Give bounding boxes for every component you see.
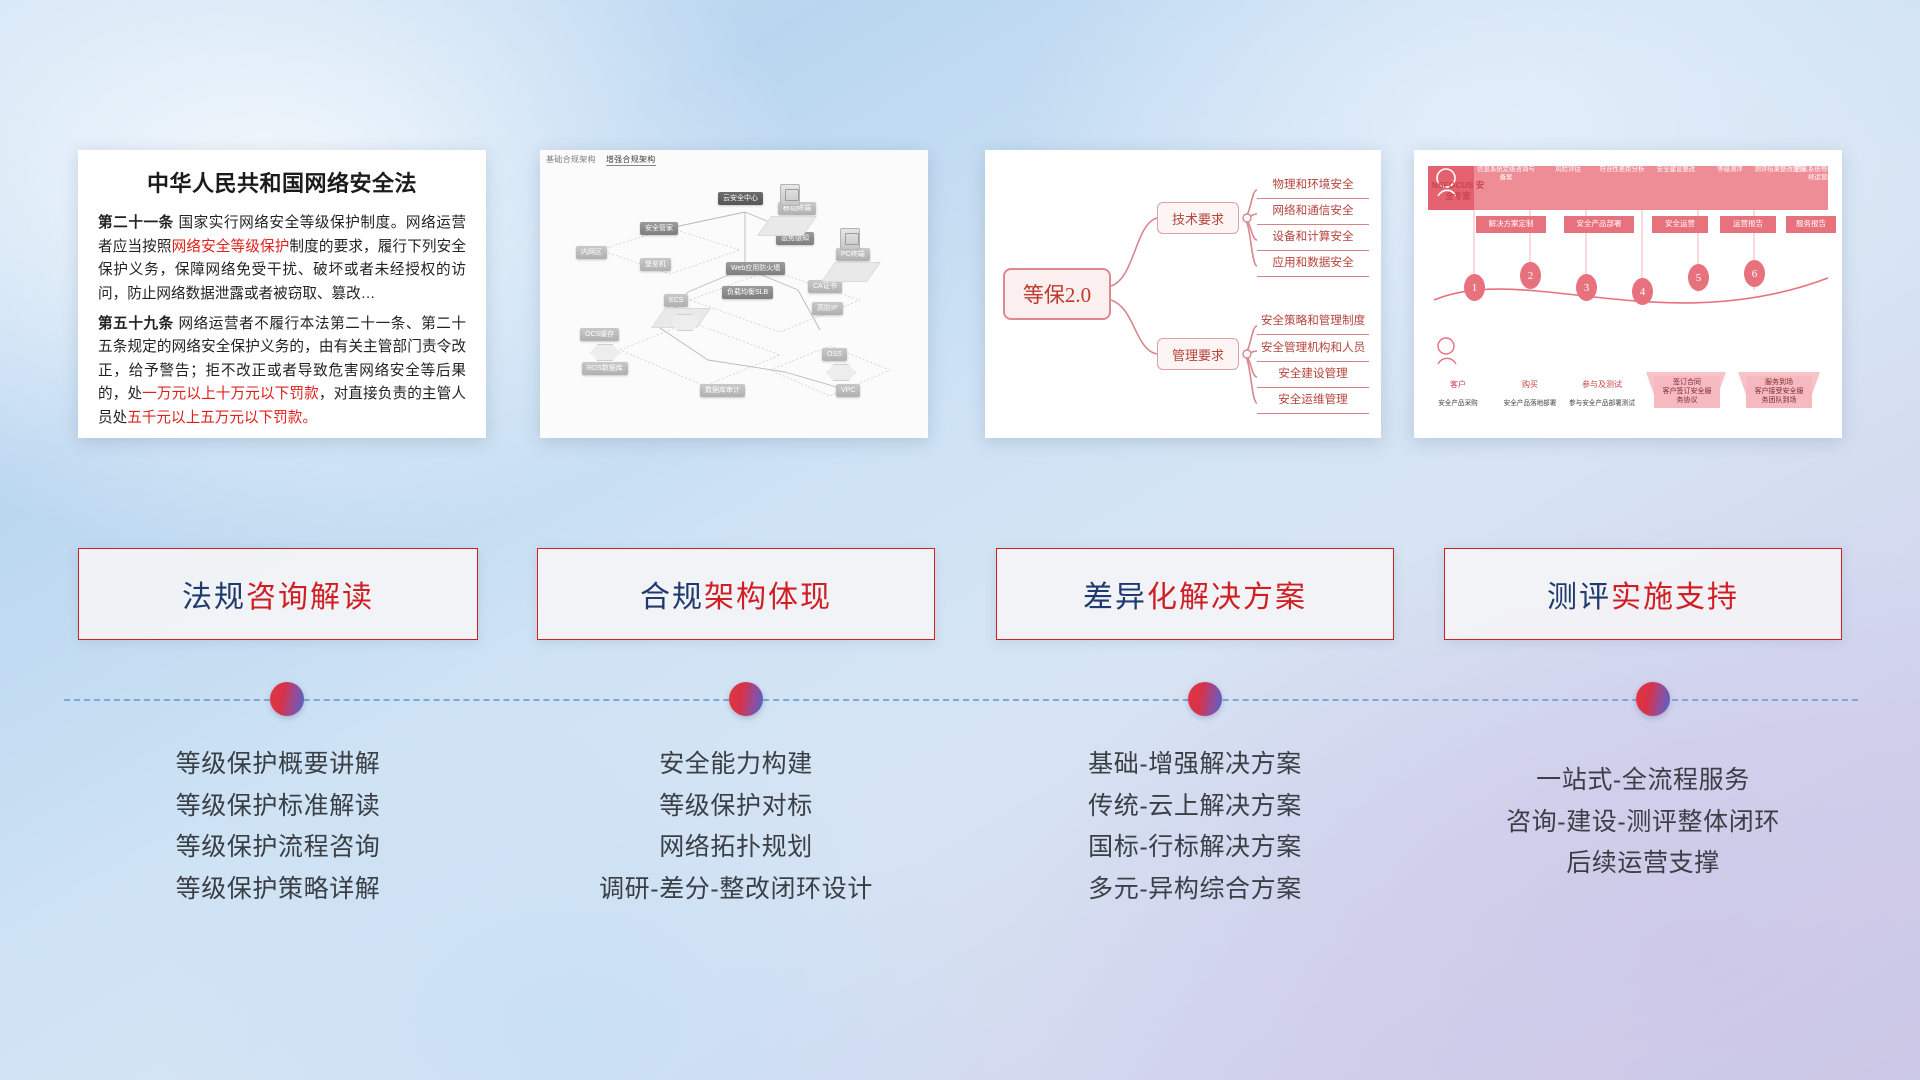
roadmap-chip-4: 运营报告 [1720,216,1776,233]
section-header-compliance-architecture[interactable]: 合规架构体现 [537,548,935,640]
node-ocs-cache: OCS缓存 [580,328,619,341]
article-59-highlight-a: 一万元以上十万元以下罚款 [142,386,319,402]
roadmap-step-2: 2 [1520,262,1541,289]
bullet-item: 网络拓扑规划 [537,827,935,869]
mindmap-leaf-mgmt-1: 安全策略和管理制度 [1257,310,1369,335]
roadmap-chip-5: 服务报告 [1786,216,1836,233]
node-vpc: VPC [836,384,860,397]
mindmap-branch-technical: 技术要求 [1157,202,1239,234]
roadmap-top-label-3: 符合性差距分析 [1592,166,1652,174]
timeline-dot-2 [729,682,763,716]
bullet-item: 传统-云上解决方案 [996,786,1394,828]
architecture-diagram-card: 基础合规架构增强合规架构 [540,150,928,438]
device-cube-pc [840,228,860,250]
roadmap-card: NSFOCUS 安全专家 信息系统定级咨询与备案 风险评估 符合性差距分析 安全… [1414,150,1842,438]
roadmap-chip-2: 安全产品部署 [1564,216,1634,233]
section-header-differentiated-solution-text: 差异化解决方案 [1083,572,1307,616]
roadmap-bottom-1: 客户 安全产品采购 [1420,372,1496,409]
bullet-column-compliance-architecture: 安全能力构建 等级保护对标 网络拓扑规划 调研-差分-整改闭环设计 [537,744,935,910]
node-ecs: ECS [664,294,688,307]
section-header-legal-consulting[interactable]: 法规咨询解读 [78,548,478,640]
timeline-dot-3 [1188,682,1222,716]
roadmap-top-label-7: 信息系统等级保护持续运营服务 [1794,166,1842,181]
section-header-evaluation-support-text: 测评实施支持 [1547,572,1739,616]
bullet-column-differentiated-solution: 基础-增强解决方案 传统-云上解决方案 国标-行标解决方案 多元-异构综合方案 [996,744,1394,910]
article-21-highlight: 网络安全等级保护 [172,239,290,255]
roadmap-step-1: 1 [1464,274,1485,301]
roadmap-step-4: 4 [1632,278,1653,305]
mindmap-root-node: 等保2.0 [1003,268,1111,320]
article-59-highlight-b: 五千元以上五万元以下罚款。 [127,410,317,426]
mindmap-leaf-tech-4: 应用和数据安全 [1257,252,1369,277]
roadmap-top-label-1: 信息系统定级咨询与备案 [1476,166,1536,181]
article-21-label: 第二十一条 [98,215,174,231]
node-bastion-host: 堡垒机 [640,258,671,271]
timeline-dot-4 [1636,682,1670,716]
bullet-item: 等级保护标准解读 [78,786,478,828]
mindmap-leaf-mgmt-4: 安全运维管理 [1257,389,1369,414]
law-title: 中华人民共和国网络安全法 [98,166,466,198]
mindmap-branch-management: 管理要求 [1157,338,1239,370]
bullet-item: 国标-行标解决方案 [996,827,1394,869]
node-oss: OSS [822,348,847,361]
bullet-item: 后续运营支撑 [1444,843,1842,885]
bullet-item: 基础-增强解决方案 [996,744,1394,786]
roadmap-step-6: 6 [1744,260,1765,287]
node-web-application-firewall: Web应用防火墙 [726,262,785,275]
roadmap-bottom-2: 购买 安全产品落地部署 [1492,372,1568,409]
bullet-item: 调研-差分-整改闭环设计 [537,869,935,911]
mindmap-leaf-tech-2: 网络和通信安全 [1257,200,1369,225]
bullet-column-legal-consulting: 等级保护概要讲解 等级保护标准解读 等级保护流程咨询 等级保护策略详解 [78,744,478,910]
bullet-column-row: 等级保护概要讲解 等级保护标准解读 等级保护流程咨询 等级保护策略详解 安全能力… [0,744,1920,974]
header-4-prefix: 测评 [1547,581,1611,614]
roadmap-bottom-2-title: 购买 [1492,380,1568,390]
header-1-prefix: 法规 [182,581,246,614]
section-header-compliance-architecture-text: 合规架构体现 [640,572,832,616]
bullet-item: 多元-异构综合方案 [996,869,1394,911]
roadmap-top-label-4: 安全建设整改 [1646,166,1706,174]
header-2-prefix: 合规 [640,581,704,614]
section-header-evaluation-support[interactable]: 测评实施支持 [1444,548,1842,640]
mindmap-leaf-tech-1: 物理和环境安全 [1257,174,1369,199]
roadmap-top-label-2: 风险评估 [1538,166,1598,174]
roadmap-tag-2: 服务到场 客户接受安全服务团队到场 [1746,376,1812,408]
roadmap-bottom-3-title: 参与及测试 [1564,380,1640,390]
header-3-prefix: 差异 [1083,581,1147,614]
node-load-balancer-slb: 负载均衡SLB [722,286,773,299]
roadmap-brand-label: NSFOCUS 安全专家 [1430,180,1486,202]
node-cloud-security-center: 云安全中心 [718,192,763,205]
header-3-suffix: 化解决方案 [1147,581,1307,614]
law-body: 中华人民共和国网络安全法 第二十一条 国家实行网络安全等级保护制度。网络运营者应… [78,150,486,438]
timeline-dot-1 [270,682,304,716]
roadmap-chip-3: 安全运营 [1652,216,1708,233]
node-security-butler: 安全管家 [640,222,678,235]
bullet-item: 安全能力构建 [537,744,935,786]
roadmap-tag-1: 签订合同 客户签订安全服务协议 [1654,376,1720,408]
bullet-column-evaluation-support: 一站式-全流程服务 咨询-建设-测评整体闭环 后续运营支撑 [1444,760,1842,885]
roadmap-bottom-2-sub: 安全产品落地部署 [1504,400,1557,407]
node-database-audit: 数据库审计 [700,384,745,397]
mindmap-leaf-tech-3: 设备和计算安全 [1257,226,1369,251]
device-cube-mobile [780,184,800,206]
law-text-card: 中华人民共和国网络安全法 第二十一条 国家实行网络安全等级保护制度。网络运营者应… [78,150,486,438]
article-59-label: 第五十九条 [98,316,174,332]
mindmap-canvas: 等保2.0 技术要求 管理要求 物理和环境安全 网络和通信安全 设备和计算安全 … [985,150,1381,438]
roadmap-bottom-3: 参与及测试 参与安全产品部署测试 [1564,372,1640,409]
roadmap-bottom-1-sub: 安全产品采购 [1438,400,1478,407]
architecture-canvas: 基础合规架构增强合规架构 [540,150,928,438]
slide-root: 中华人民共和国网络安全法 第二十一条 国家实行网络安全等级保护制度。网络运营者应… [0,0,1920,1080]
roadmap-step-5: 5 [1688,264,1709,291]
mindmap-card: 等保2.0 技术要求 管理要求 物理和环境安全 网络和通信安全 设备和计算安全 … [985,150,1381,438]
section-header-differentiated-solution[interactable]: 差异化解决方案 [996,548,1394,640]
roadmap-step-3: 3 [1576,274,1597,301]
section-header-row: 法规咨询解读 合规架构体现 差异化解决方案 测评实施支持 [0,548,1920,640]
bullet-item: 等级保护策略详解 [78,869,478,911]
law-article-21: 第二十一条 国家实行网络安全等级保护制度。网络运营者应当按照网络安全等级保护制度… [98,212,466,307]
image-card-row: 中华人民共和国网络安全法 第二十一条 国家实行网络安全等级保护制度。网络运营者应… [0,150,1920,440]
bullet-item: 等级保护概要讲解 [78,744,478,786]
roadmap-bottom-1-title: 客户 [1420,380,1496,390]
roadmap-chip-1: 解决方案定制 [1476,216,1546,233]
header-1-suffix: 咨询解读 [246,581,374,614]
roadmap-bottom-3-sub: 参与安全产品部署测试 [1569,400,1635,407]
roadmap-canvas: NSFOCUS 安全专家 信息系统定级咨询与备案 风险评估 符合性差距分析 安全… [1414,150,1842,438]
header-2-suffix: 架构体现 [704,581,832,614]
bullet-item: 等级保护对标 [537,786,935,828]
header-4-suffix: 实施支持 [1611,581,1739,614]
section-header-legal-consulting-text: 法规咨询解读 [182,572,374,616]
node-rds-database: RDS数据库 [582,362,628,375]
bullet-item: 等级保护流程咨询 [78,827,478,869]
node-anti-ddos-ip: 高防IP [812,302,843,315]
law-article-59: 第五十九条 网络运营者不履行本法第二十一条、第二十五条规定的网络安全保护义务的，… [98,313,466,431]
bullet-item: 咨询-建设-测评整体闭环 [1444,802,1842,844]
mindmap-leaf-mgmt-3: 安全建设管理 [1257,363,1369,388]
mindmap-leaf-mgmt-2: 安全管理机构和人员 [1257,337,1369,362]
timeline-dashed-line [64,699,1858,701]
node-intranet-zone: 内网区 [576,246,607,259]
bullet-item: 一站式-全流程服务 [1444,760,1842,802]
timeline [64,699,1858,701]
